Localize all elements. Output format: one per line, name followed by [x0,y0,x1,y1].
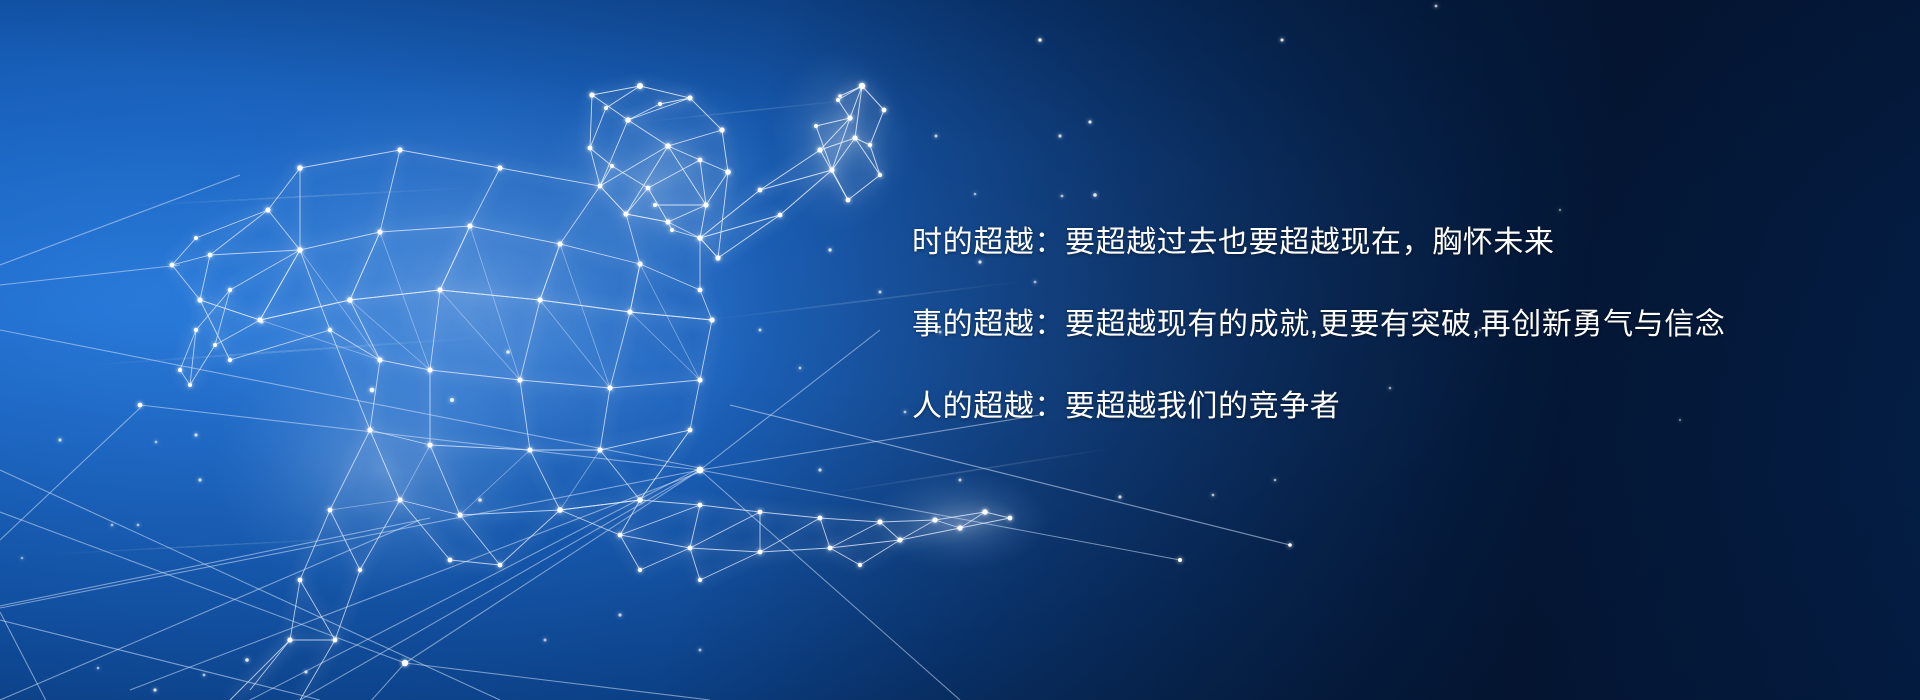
banner-line-3: 人的超越：要超越我们的竞争者 [912,392,1672,422]
banner-copy: 时的超越：要超越过去也要超越现在，胸怀未来 事的超越：要超越现有的成就,更要有突… [912,228,1672,422]
hero-banner: 时的超越：要超越过去也要超越现在，胸怀未来 事的超越：要超越现有的成就,更要有突… [0,0,1920,700]
banner-line-2: 事的超越：要超越现有的成就,更要有突破,再创新勇气与信念 [912,310,1672,340]
banner-line-1: 时的超越：要超越过去也要超越现在，胸怀未来 [912,228,1672,258]
